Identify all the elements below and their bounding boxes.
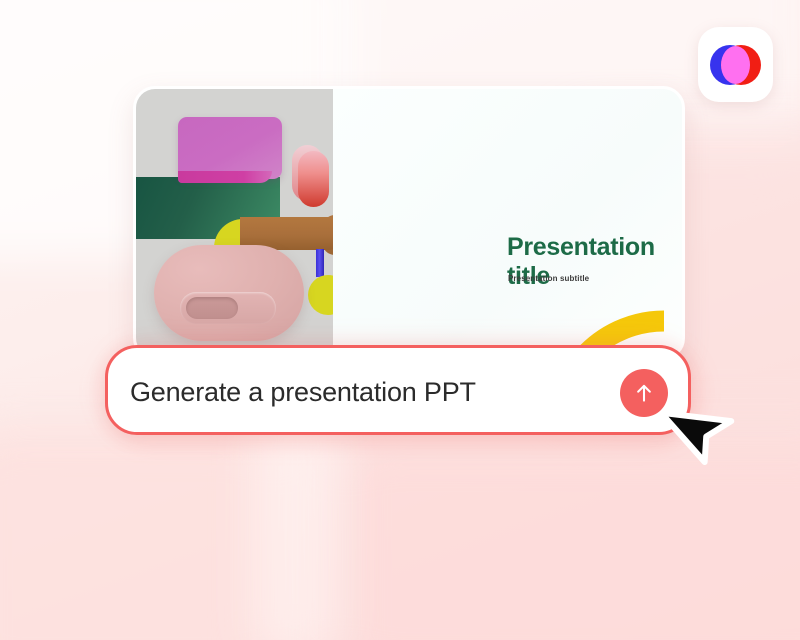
overlapping-circles-logo-icon [710, 45, 761, 85]
slide-subtitle: Presentation subtitle [508, 274, 589, 283]
slide-content-panel: Presentation title Presentation subtitle [333, 89, 682, 357]
slide-preview-card[interactable]: Presentation title Presentation subtitle [133, 86, 685, 360]
art-pill-inner [186, 297, 238, 319]
arrow-up-icon [631, 380, 657, 406]
art-magenta-strip [178, 171, 272, 183]
art-yellow-circle-2 [308, 275, 333, 315]
art-magenta-card [178, 117, 282, 179]
send-button[interactable] [620, 369, 668, 417]
prompt-input-bar[interactable]: Generate a presentation PPT [105, 345, 691, 435]
art-capsule-front [298, 151, 329, 207]
background-shape [340, 440, 800, 640]
screen: Presentation title Presentation subtitle… [0, 0, 800, 640]
logo-overlap-lens [721, 46, 750, 84]
background-shape [0, 430, 280, 640]
art-blue-bar [316, 249, 324, 277]
mouse-pointer-icon [662, 393, 740, 465]
slide-art-panel [136, 89, 333, 357]
prompt-input-value[interactable]: Generate a presentation PPT [130, 377, 476, 408]
app-logo-badge[interactable] [698, 27, 773, 102]
